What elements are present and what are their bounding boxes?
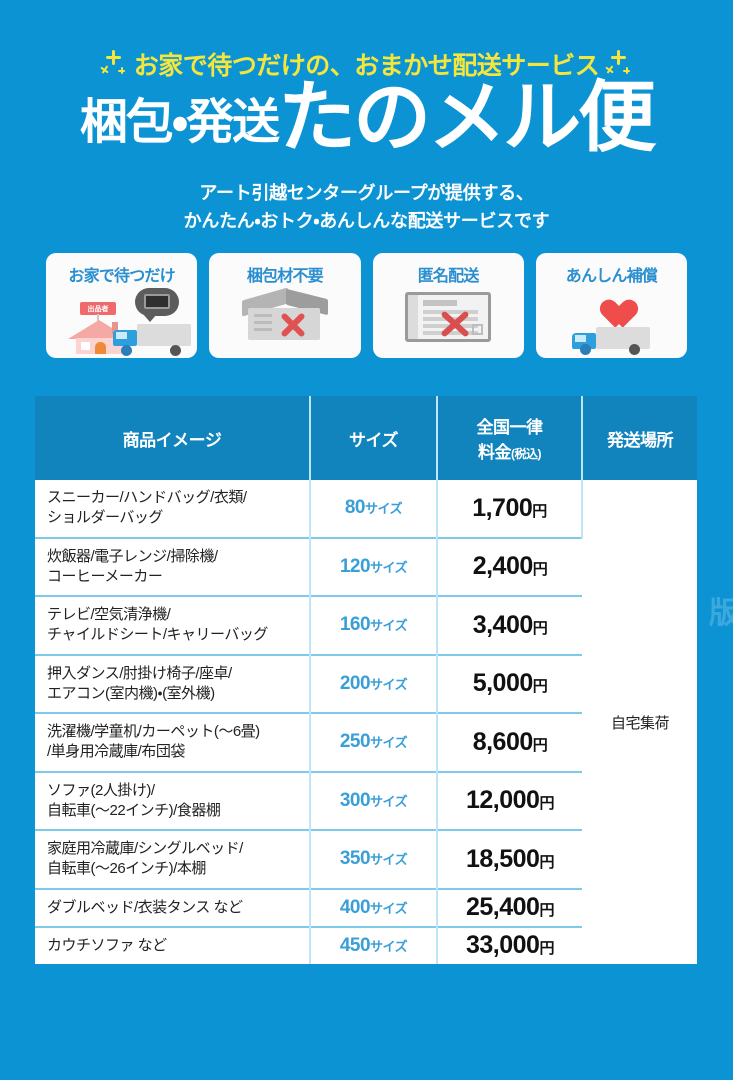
open-box-x-icon	[209, 286, 360, 358]
item-line-1: テレビ/空気清浄機/	[47, 605, 309, 625]
item-line-1: カウチソファ など	[47, 936, 309, 956]
logo-title: たのメル便	[278, 78, 653, 156]
size-unit: サイズ	[370, 677, 407, 692]
size-number: 80	[345, 497, 365, 518]
truck-icon	[572, 325, 650, 355]
item-line-1: 押入ダンス/肘掛け椅子/座卓/	[47, 664, 309, 684]
size-number: 250	[340, 731, 370, 752]
cell-price: 2,400円	[437, 538, 582, 597]
feature-card-no-packaging[interactable]: 梱包材不要	[209, 253, 360, 358]
table-header-row: 商品イメージ サイズ 全国一律 料金(税込) 発送場所	[35, 396, 697, 480]
header-subtitle: アート引越センターグループが提供する、 かんたん・おトク・あんしんな配送サービス…	[0, 180, 733, 236]
cell-size: 120サイズ	[310, 538, 437, 597]
item-line-2: チャイルドシート/キャリーバッグ	[47, 625, 309, 645]
column-header-place: 発送場所	[582, 396, 697, 480]
cell-size: 160サイズ	[310, 596, 437, 655]
price-amount: 2,400	[473, 552, 533, 580]
cell-price: 18,500円	[437, 830, 582, 889]
size-unit: サイズ	[370, 939, 407, 954]
item-line-2: エアコン(室内機)・(室外機)	[47, 684, 309, 704]
subtitle-line-2: かんたん・おトク・あんしんな配送サービスです	[0, 208, 733, 236]
cell-size: 250サイズ	[310, 713, 437, 772]
cell-price: 33,000円	[437, 927, 582, 964]
feature-card-insurance[interactable]: あんしん補償	[536, 253, 687, 358]
price-amount: 18,500	[466, 845, 539, 873]
price-amount: 33,000	[466, 931, 539, 959]
item-line-2: コーヒーメーカー	[47, 567, 309, 587]
size-number: 450	[340, 935, 370, 956]
price-currency: 円	[533, 561, 548, 578]
price-amount: 25,400	[466, 893, 539, 921]
truck-icon	[113, 322, 191, 356]
cell-price: 5,000円	[437, 655, 582, 714]
size-unit: サイズ	[365, 501, 402, 516]
cell-size: 300サイズ	[310, 772, 437, 831]
cell-shipping-place: 自宅集荷	[582, 480, 697, 964]
price-currency: 円	[539, 795, 554, 812]
house-truck-icon: 出品者	[46, 286, 197, 358]
tv-speech-bubble-icon	[135, 288, 179, 316]
cell-size: 350サイズ	[310, 830, 437, 889]
price-amount: 3,400	[473, 611, 533, 639]
price-currency: 円	[532, 503, 547, 520]
cell-size: 400サイズ	[310, 889, 437, 927]
cell-item: ダブルベッド/衣装タンス など	[35, 889, 310, 927]
feature-card-title: 梱包材不要	[247, 262, 323, 286]
column-header-price: 全国一律 料金(税込)	[437, 396, 582, 480]
page-root: 版 お家で待つだけの、おまかせ配送サービス 梱包・発送 たのメル便 アート引越セ…	[0, 0, 733, 1080]
feature-card-wait-at-home[interactable]: お家で待つだけ 出品者	[46, 253, 197, 358]
column-header-size: サイズ	[310, 396, 437, 480]
item-line-1: ダブルベッド/衣装タンス など	[47, 898, 309, 918]
item-line-1: 洗濯機/学童机/カーペット(〜6畳)	[47, 722, 309, 742]
size-unit: サイズ	[370, 901, 407, 916]
cell-item: カウチソファ など	[35, 927, 310, 964]
cell-item: 炊飯器/電子レンジ/掃除機/コーヒーメーカー	[35, 538, 310, 597]
cell-size: 450サイズ	[310, 927, 437, 964]
item-line-1: スニーカー/ハンドバッグ/衣類/	[47, 488, 309, 508]
feature-card-title: 匿名配送	[418, 262, 479, 286]
price-currency: 円	[539, 854, 554, 871]
column-header-item: 商品イメージ	[35, 396, 310, 480]
heart-icon	[594, 286, 628, 316]
size-number: 160	[340, 614, 370, 635]
price-currency: 円	[533, 678, 548, 695]
pricing-table: 商品イメージ サイズ 全国一律 料金(税込) 発送場所 スニーカー/ハンドバッグ…	[35, 396, 697, 964]
cell-size: 200サイズ	[310, 655, 437, 714]
item-line-1: 炊飯器/電子レンジ/掃除機/	[47, 547, 309, 567]
cell-price: 8,600円	[437, 713, 582, 772]
feature-card-title: あんしん補償	[566, 262, 657, 286]
item-line-2: 自転車(〜22インチ)/食器棚	[47, 801, 309, 821]
size-number: 300	[340, 790, 370, 811]
item-line-2: 自転車(〜26インチ)/本棚	[47, 859, 309, 879]
cell-item: 押入ダンス/肘掛け椅子/座卓/エアコン(室内機)・(室外機)	[35, 655, 310, 714]
size-number: 400	[340, 897, 370, 918]
cell-item: 洗濯機/学童机/カーペット(〜6畳)/単身用冷蔵庫/布団袋	[35, 713, 310, 772]
subtitle-line-1: アート引越センターグループが提供する、	[0, 180, 733, 208]
watermark-text: 版	[709, 588, 733, 632]
logo-prefix: 梱包・発送	[80, 99, 278, 156]
logo-row: 梱包・発送 たのメル便	[0, 78, 733, 156]
item-line-1: 家庭用冷蔵庫/シングルベッド/	[47, 839, 309, 859]
price-header-line-1: 全国一律	[438, 413, 581, 438]
price-header-line-2: 料金(税込)	[438, 438, 581, 463]
pricing-table-body: スニーカー/ハンドバッグ/衣類/ショルダーバッグ80サイズ1,700円自宅集荷炊…	[35, 480, 697, 964]
price-amount: 5,000	[473, 669, 533, 697]
price-amount: 1,700	[472, 494, 532, 522]
cell-size: 80サイズ	[310, 480, 437, 538]
pricing-table-head: 商品イメージ サイズ 全国一律 料金(税込) 発送場所	[35, 396, 697, 480]
sparkle-icon-left	[100, 47, 128, 81]
cell-price: 3,400円	[437, 596, 582, 655]
price-currency: 円	[539, 902, 554, 919]
item-line-2: /単身用冷蔵庫/布団袋	[47, 742, 309, 762]
cell-price: 1,700円	[437, 480, 582, 538]
feature-card-list: お家で待つだけ 出品者	[46, 253, 687, 358]
price-amount: 8,600	[473, 728, 533, 756]
shipping-label-x-icon	[373, 286, 524, 358]
size-unit: サイズ	[370, 618, 407, 633]
cell-item: テレビ/空気清浄機/チャイルドシート/キャリーバッグ	[35, 596, 310, 655]
price-amount: 12,000	[466, 786, 539, 814]
item-line-1: ソファ(2人掛け)/	[47, 781, 309, 801]
table-row: スニーカー/ハンドバッグ/衣類/ショルダーバッグ80サイズ1,700円自宅集荷	[35, 480, 697, 538]
price-currency: 円	[533, 620, 548, 637]
heart-truck-icon	[536, 286, 687, 358]
cell-item: ソファ(2人掛け)/自転車(〜22インチ)/食器棚	[35, 772, 310, 831]
size-unit: サイズ	[370, 794, 407, 809]
cell-price: 25,400円	[437, 889, 582, 927]
price-currency: 円	[539, 940, 554, 957]
cell-item: 家庭用冷蔵庫/シングルベッド/自転車(〜26インチ)/本棚	[35, 830, 310, 889]
size-number: 200	[340, 673, 370, 694]
price-currency: 円	[533, 737, 548, 754]
feature-card-anonymous-shipping[interactable]: 匿名配送	[373, 253, 524, 358]
price-header-tax-note: (税込)	[511, 447, 541, 461]
size-number: 120	[340, 556, 370, 577]
cell-price: 12,000円	[437, 772, 582, 831]
size-number: 350	[340, 848, 370, 869]
item-line-2: ショルダーバッグ	[47, 508, 309, 528]
cell-item: スニーカー/ハンドバッグ/衣類/ショルダーバッグ	[35, 480, 310, 538]
size-unit: サイズ	[370, 735, 407, 750]
size-unit: サイズ	[370, 560, 407, 575]
size-unit: サイズ	[370, 852, 407, 867]
feature-card-title: お家で待つだけ	[68, 262, 174, 286]
